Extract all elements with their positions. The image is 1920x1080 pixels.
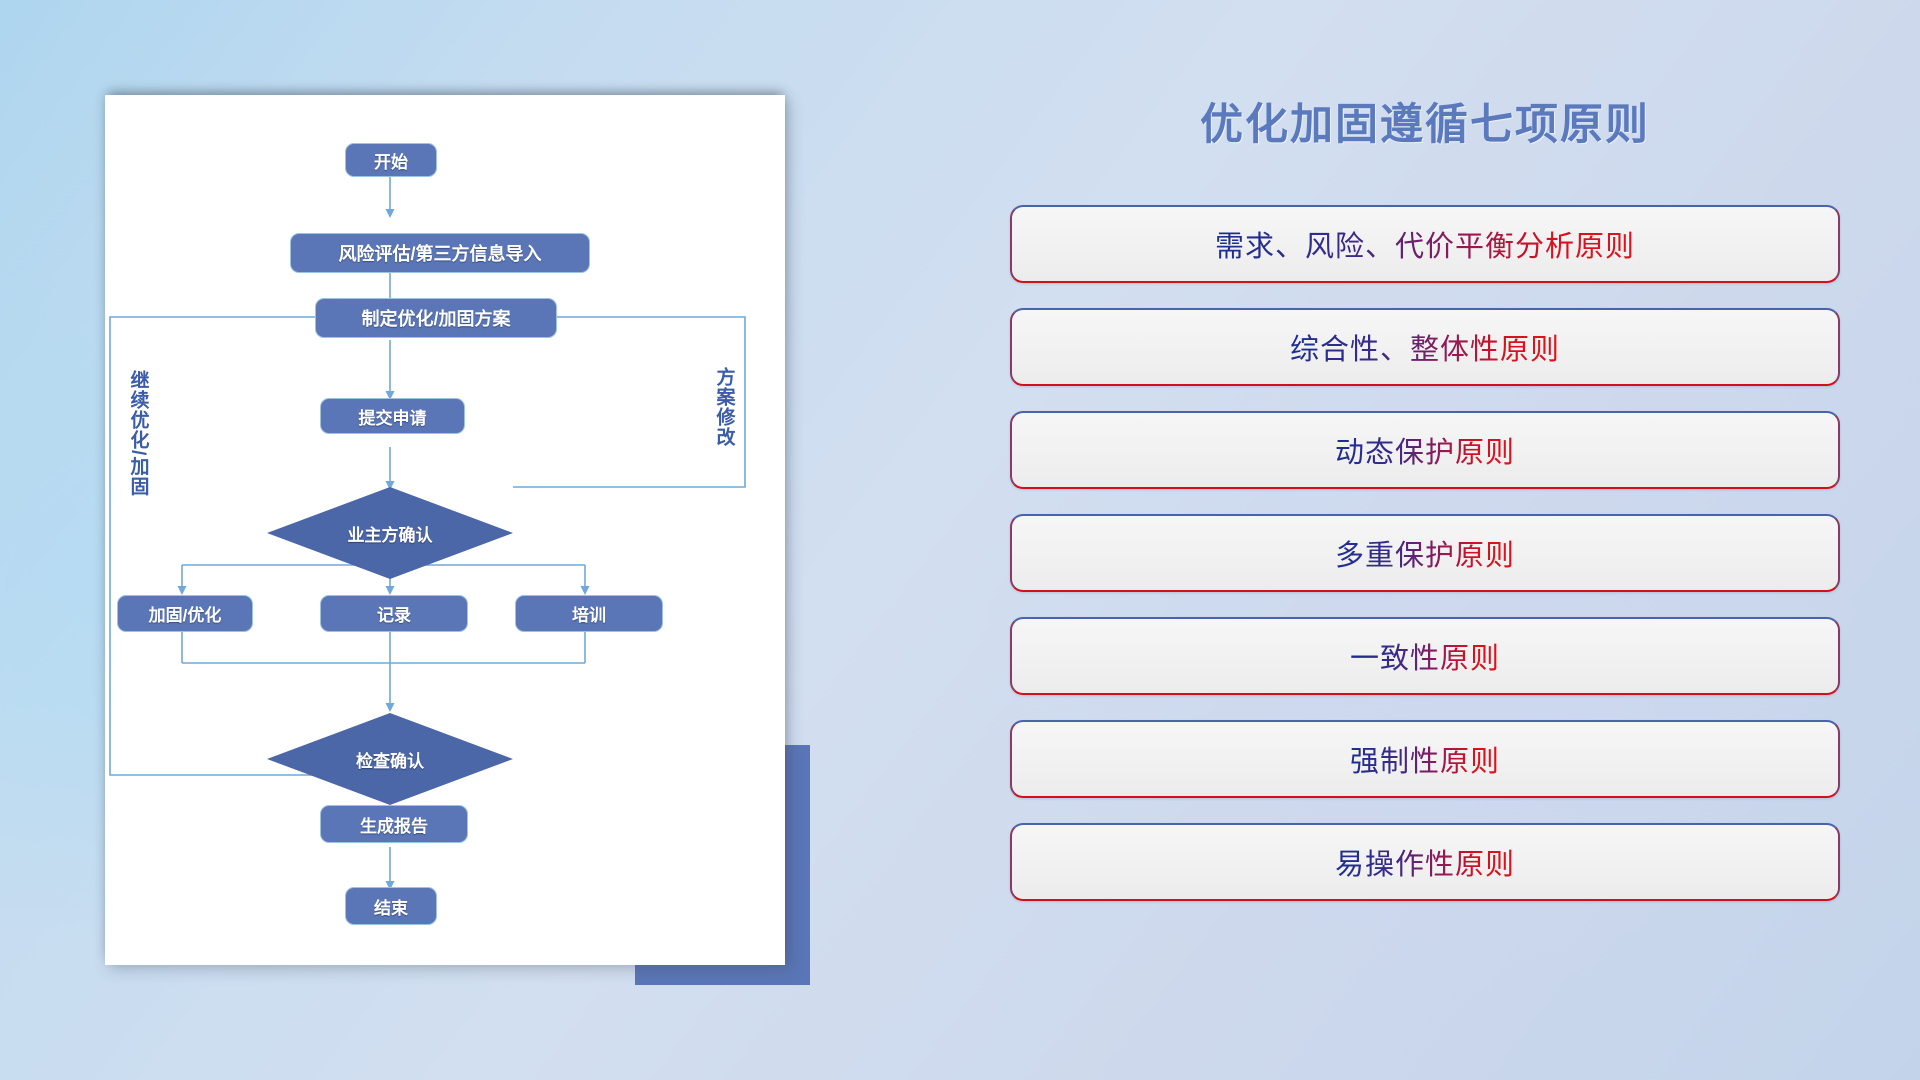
flowchart-card: 开始 风险评估/第三方信息导入 制定优化/加固方案 提交申请 业主方确认 加固/…: [105, 95, 785, 965]
flow-node-label: 结束: [374, 894, 408, 919]
flow-node-record[interactable]: 记录: [320, 595, 468, 632]
flow-node-label: 记录: [377, 601, 411, 626]
flow-node-label: 开始: [374, 148, 408, 173]
principle-label: 动态保护原则: [1335, 429, 1515, 471]
flow-node-submit[interactable]: 提交申请: [320, 398, 465, 434]
flow-node-training[interactable]: 培训: [515, 595, 663, 632]
principle-label: 需求、风险、代价平衡分析原则: [1215, 223, 1635, 265]
flow-node-label: 业主方确认: [348, 521, 433, 546]
flow-node-label: 生成报告: [360, 812, 428, 837]
flow-node-start[interactable]: 开始: [345, 143, 437, 177]
principle-item[interactable]: 易操作性原则: [1010, 823, 1840, 901]
principles-panel: 优化加固遵循七项原则 需求、风险、代价平衡分析原则 综合性、整体性原则 动态保护…: [1010, 90, 1840, 1020]
flow-node-end[interactable]: 结束: [345, 887, 437, 925]
flow-edge-label-continue-optimize: 继续优化/加固: [127, 370, 148, 560]
flow-edge-label-text: 方案修改: [714, 367, 735, 447]
principle-label: 多重保护原则: [1335, 532, 1515, 574]
flow-node-label: 制定优化/加固方案: [361, 305, 510, 331]
principles-list: 需求、风险、代价平衡分析原则 综合性、整体性原则 动态保护原则 多重保护原则 一…: [1010, 205, 1840, 901]
flow-edge-label-text: 继续优化/加固: [128, 370, 149, 496]
principles-title: 优化加固遵循七项原则: [1010, 90, 1840, 152]
flow-node-report[interactable]: 生成报告: [320, 805, 468, 843]
flow-edge-label-plan-revision: 方案修改: [713, 367, 734, 487]
flow-node-label: 加固/优化: [149, 601, 222, 626]
principle-item[interactable]: 动态保护原则: [1010, 411, 1840, 489]
principle-label: 强制性原则: [1350, 738, 1500, 780]
principle-label: 综合性、整体性原则: [1290, 326, 1560, 368]
principle-item[interactable]: 需求、风险、代价平衡分析原则: [1010, 205, 1840, 283]
flow-node-risk-assessment[interactable]: 风险评估/第三方信息导入: [290, 233, 590, 273]
principle-item[interactable]: 综合性、整体性原则: [1010, 308, 1840, 386]
principle-label: 一致性原则: [1350, 635, 1500, 677]
flow-node-plan[interactable]: 制定优化/加固方案: [315, 298, 557, 338]
flow-node-label: 检查确认: [356, 747, 424, 772]
principle-item[interactable]: 一致性原则: [1010, 617, 1840, 695]
principle-label: 易操作性原则: [1335, 841, 1515, 883]
principle-item[interactable]: 多重保护原则: [1010, 514, 1840, 592]
flow-node-label: 风险评估/第三方信息导入: [339, 240, 542, 266]
flow-node-owner-confirm[interactable]: 业主方确认: [267, 487, 513, 579]
flow-node-label: 提交申请: [359, 404, 427, 429]
flow-node-label: 培训: [572, 601, 606, 626]
flow-node-check-confirm[interactable]: 检查确认: [267, 713, 513, 805]
principle-item[interactable]: 强制性原则: [1010, 720, 1840, 798]
flow-node-reinforce[interactable]: 加固/优化: [117, 595, 253, 632]
